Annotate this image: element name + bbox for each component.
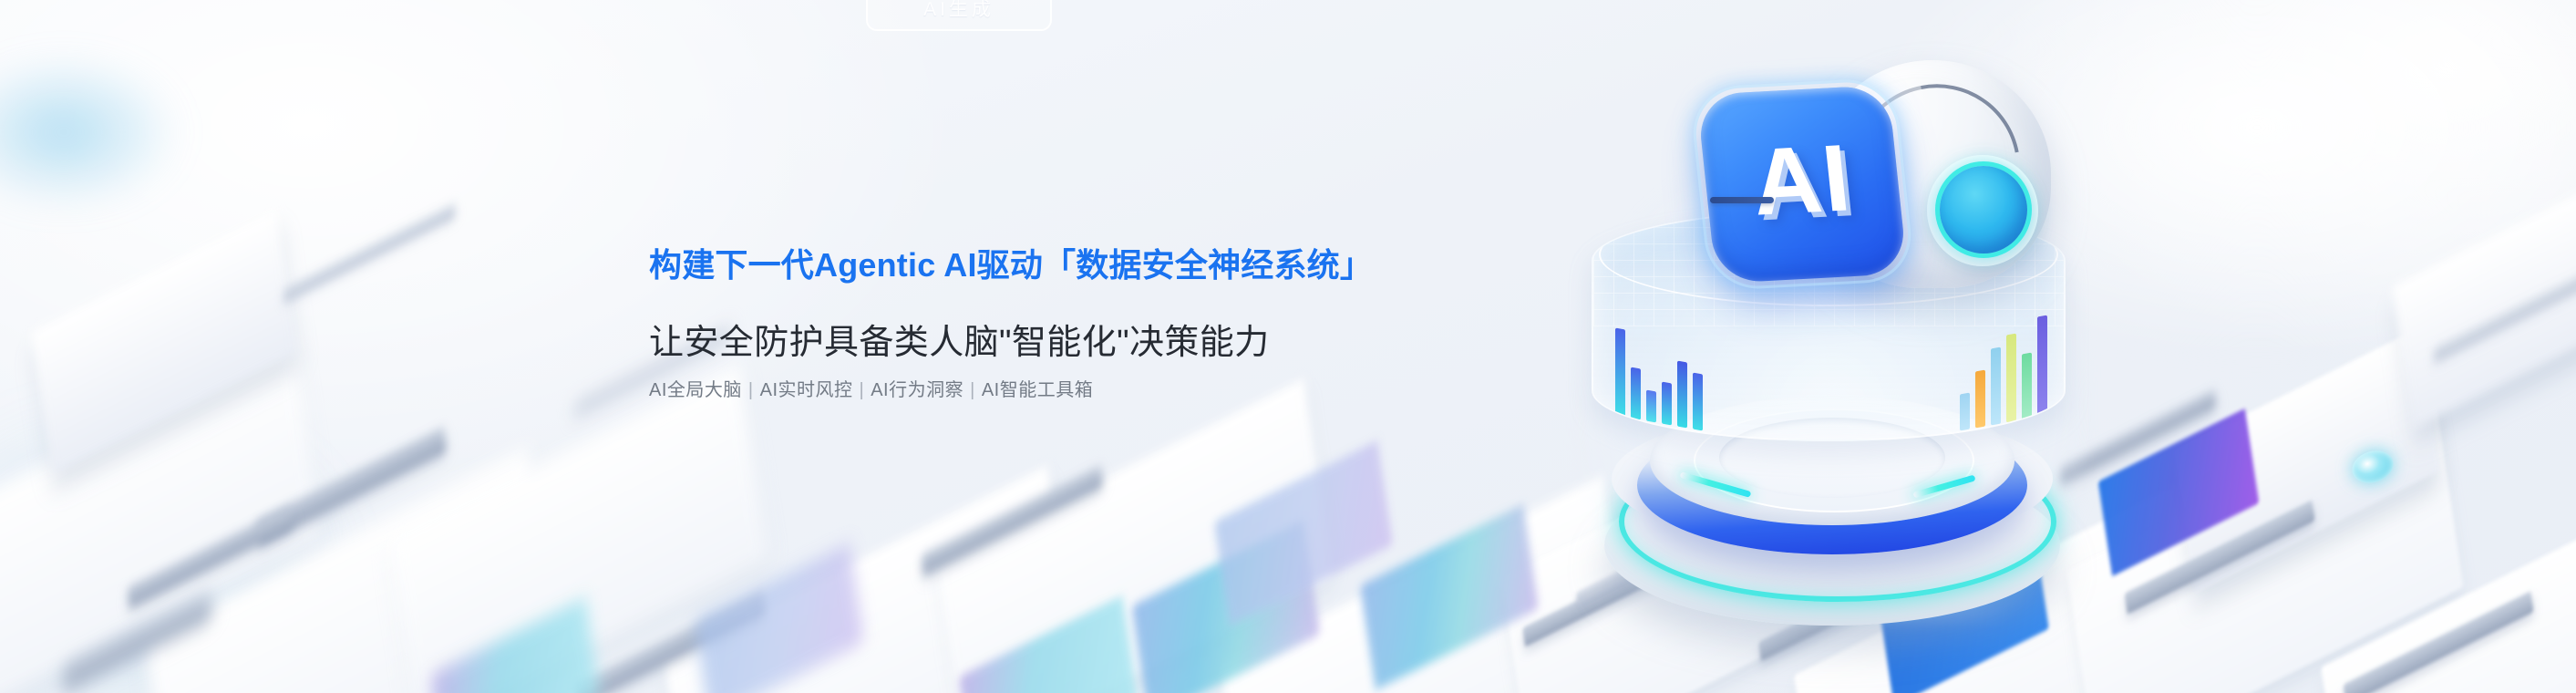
ring-bar-chart-left: [1615, 328, 1703, 431]
page-subtitle: 让安全防护具备类人脑"智能化"决策能力: [649, 321, 1606, 365]
ai-badge: AI: [1696, 85, 1908, 284]
ring-bar: [1693, 373, 1703, 431]
ring-bar: [1677, 361, 1687, 429]
ring-bar: [2006, 334, 2016, 423]
ring-bar: [1975, 370, 1985, 429]
ring-bar-chart-right: [1960, 315, 2047, 431]
watermark-label: AI生成: [923, 0, 994, 22]
ring-bar: [1662, 382, 1672, 426]
tagline-item: AI实时风控: [760, 380, 853, 400]
hero-illustration: AI: [1540, 36, 2124, 638]
tagline-item: AI智能工具箱: [982, 380, 1093, 400]
page-title: 构建下一代Agentic AI驱动「数据安全神经系统」: [649, 244, 1606, 286]
ring-bar: [1631, 367, 1641, 420]
ring-bar: [1615, 328, 1625, 418]
hero-copy: 构建下一代Agentic AI驱动「数据安全神经系统」 让安全防护具备类人脑"智…: [649, 244, 1606, 403]
helmet-lens-icon: [1940, 166, 2027, 253]
tagline-separator: |: [742, 380, 760, 400]
tagline-separator: |: [963, 380, 982, 400]
feature-tagline-list: AI全局大脑|AI实时风控|AI行为洞察|AI智能工具箱: [649, 378, 1606, 403]
ring-bar: [1991, 347, 2001, 426]
tagline-item: AI全局大脑: [649, 380, 742, 400]
ai-generated-watermark: AI生成: [866, 0, 1052, 31]
tagline-separator: |: [853, 380, 871, 400]
ring-bar: [2022, 353, 2032, 420]
ring-bar: [1960, 393, 1970, 431]
tagline-item: AI行为洞察: [871, 380, 963, 400]
hero-banner: AI生成 构建下一代Agentic AI驱动「数据安全神经系统」 让安全防护具备…: [0, 0, 2576, 693]
ai-badge-label: AI: [1747, 124, 1856, 237]
ring-bar: [1646, 390, 1656, 423]
helmet-connector-bar: [1710, 197, 1774, 203]
ring-bar: [2037, 315, 2047, 418]
